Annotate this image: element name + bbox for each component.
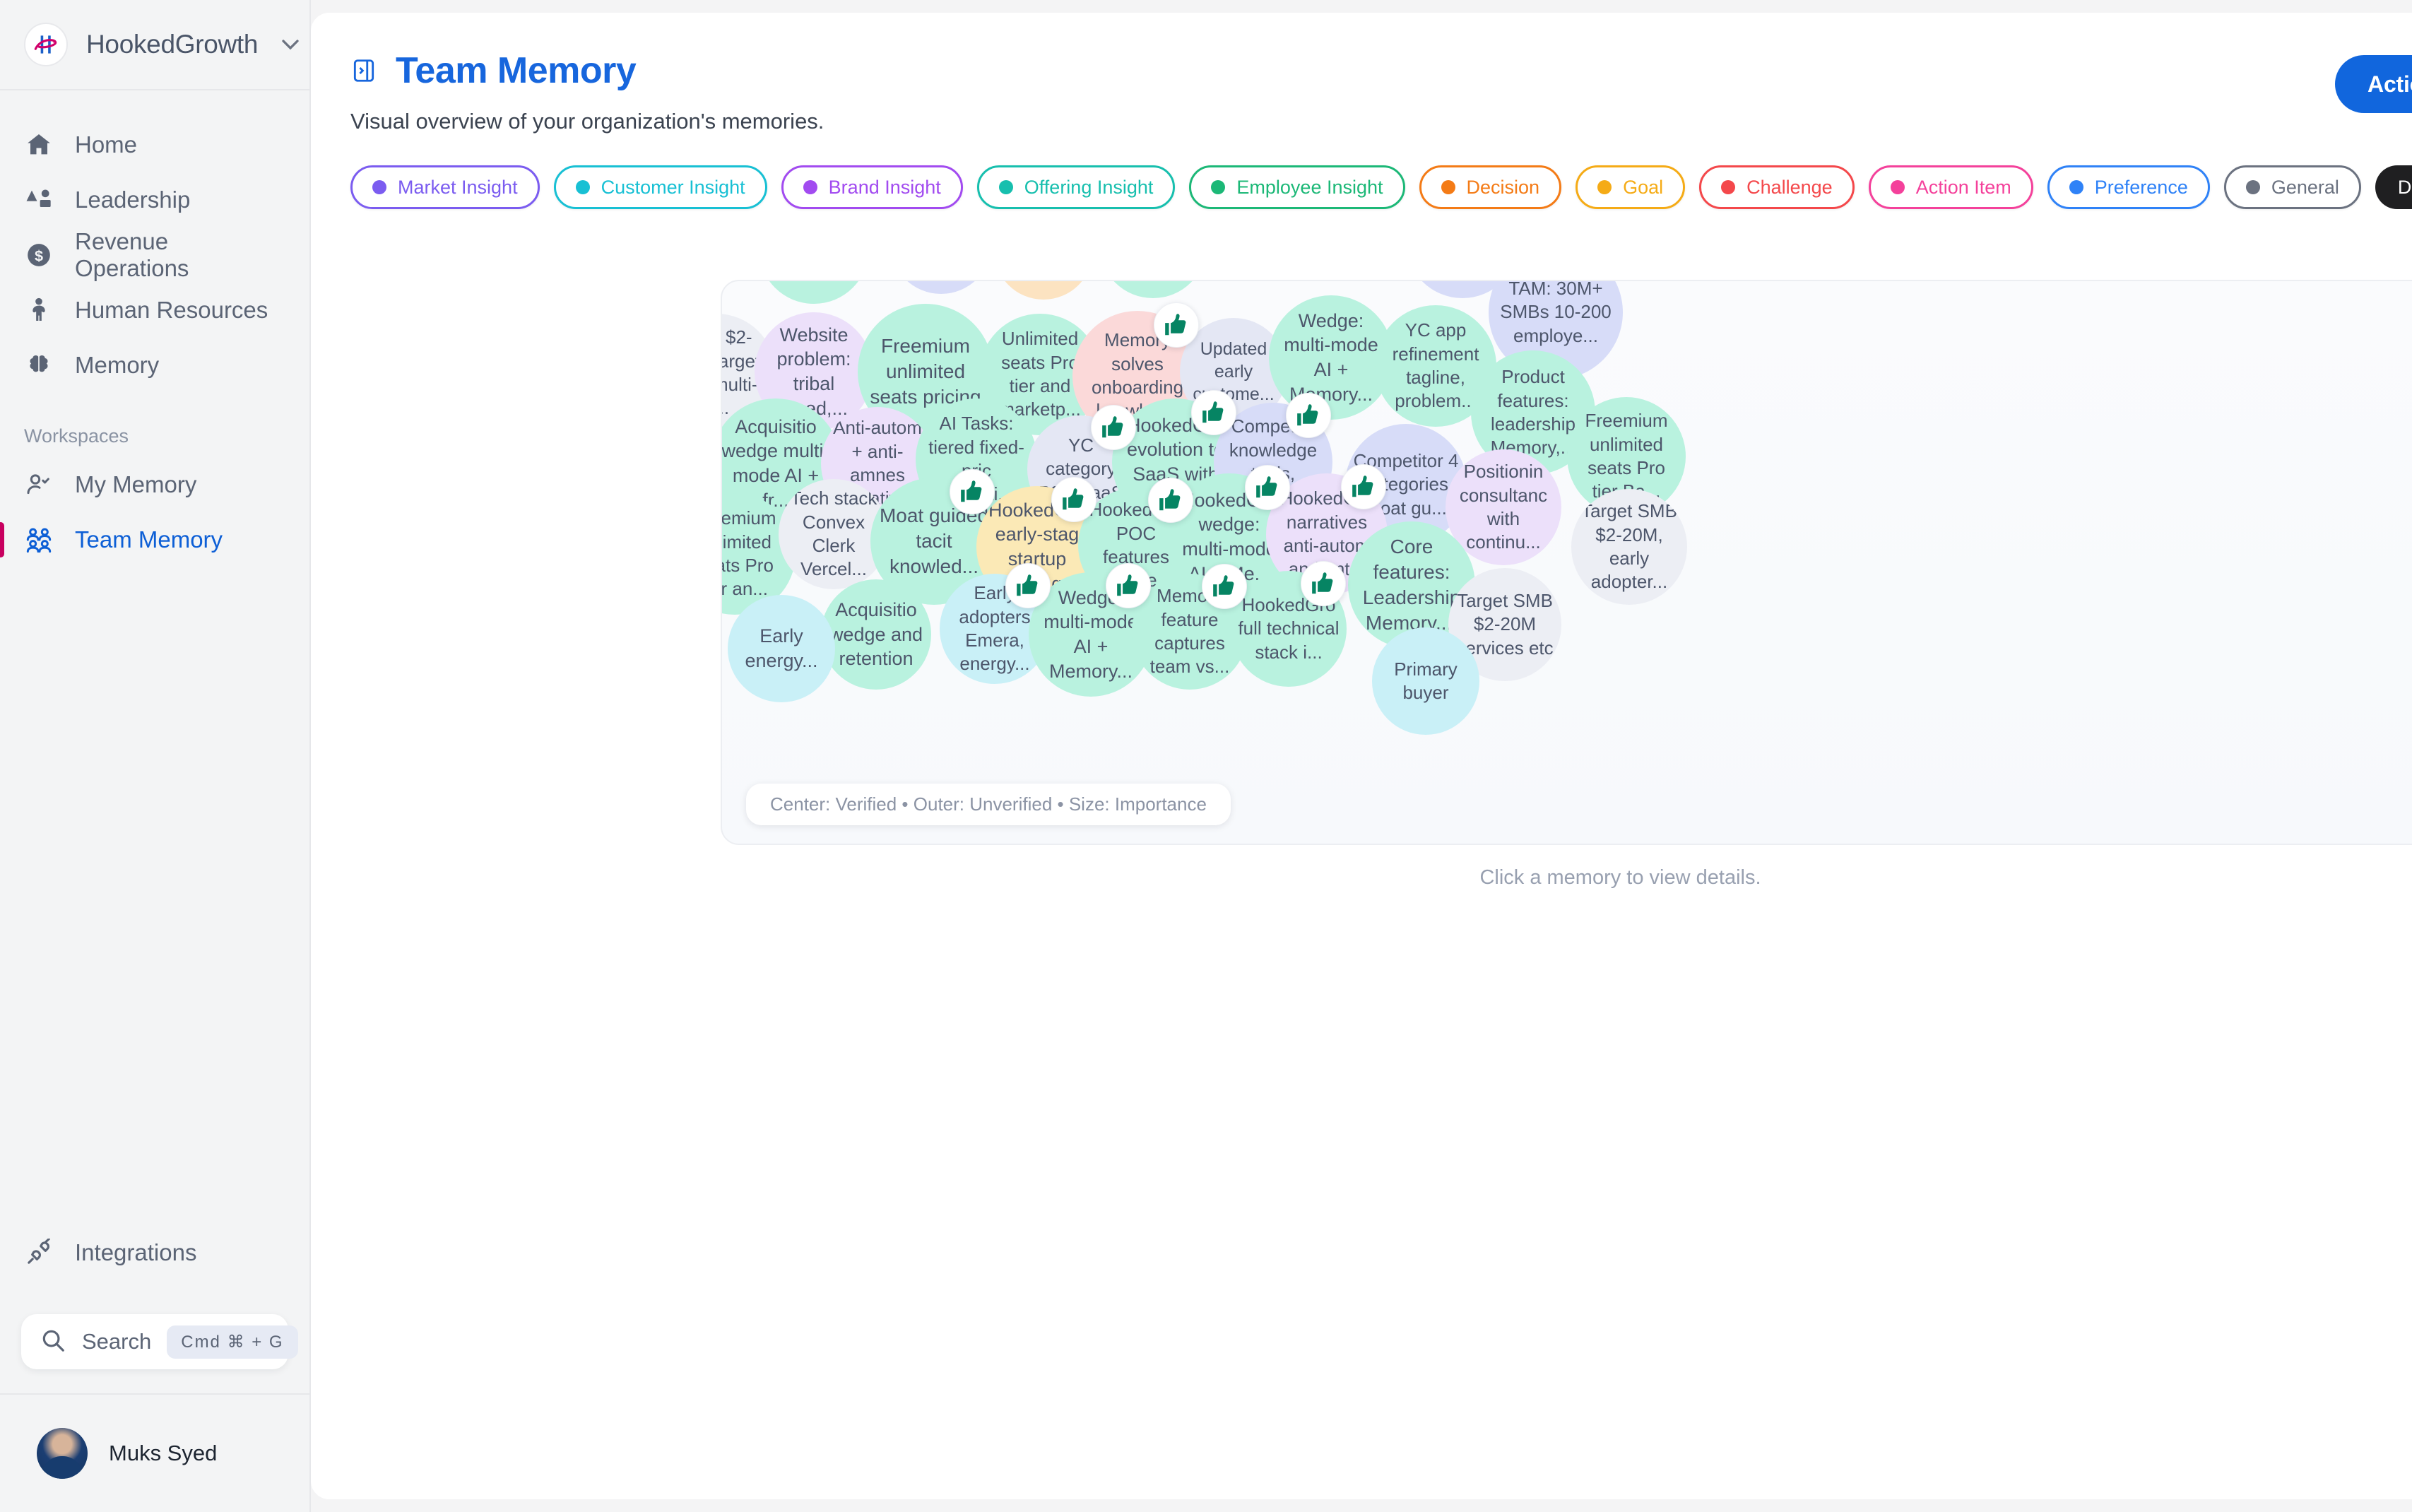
page-title: Team Memory <box>396 49 636 92</box>
user-name: Muks Syed <box>109 1441 217 1466</box>
filter-chip-label: Customer Insight <box>601 177 745 199</box>
filter-chip[interactable]: Action Item <box>1869 165 2033 209</box>
sidebar: HookedGrowth Home Leadership $ <box>0 0 311 1512</box>
filter-chip-dot <box>2069 180 2083 194</box>
memory-bubble[interactable]: unlimited seats model a... <box>1099 280 1207 298</box>
deselect-all-button[interactable]: Deselect All <box>2375 165 2412 209</box>
user-profile[interactable]: Muks Syed <box>0 1393 309 1512</box>
workspaces-section-title: Workspaces <box>0 393 309 457</box>
search-input[interactable]: Search Cmd ⌘ + G <box>21 1314 288 1369</box>
sidebar-item-label: Team Memory <box>75 526 223 553</box>
workspace-name: HookedGrowth <box>86 30 258 59</box>
filter-chip-dot <box>1441 180 1455 194</box>
main-panel: Team Memory Visual overview of your orga… <box>311 13 2412 1499</box>
filter-chip-label: Goal <box>1623 177 1663 199</box>
dollar-circle-icon: $ <box>24 240 54 270</box>
user-check-icon <box>24 470 54 500</box>
thumbs-up-icon[interactable] <box>1286 393 1331 438</box>
panel-right-icon <box>350 57 377 84</box>
thumbs-up-icon[interactable] <box>1091 405 1136 450</box>
actions-button-label: Actions <box>2367 71 2412 98</box>
actions-button[interactable]: Actions <box>2335 55 2412 113</box>
sidebar-item-label: Human Resources <box>75 297 268 324</box>
memory-bubble[interactable]: Primary buyer <box>1372 627 1479 735</box>
thumbs-up-icon[interactable] <box>1106 563 1151 608</box>
filter-chip[interactable]: Goal <box>1576 165 1685 209</box>
sidebar-item-label: My Memory <box>75 471 196 498</box>
search-shortcut: Cmd ⌘ + G <box>167 1325 297 1359</box>
memory-bubble[interactable]: Acquisitio wedge and retention <box>821 579 931 690</box>
filter-chip[interactable]: Brand Insight <box>781 165 963 209</box>
filter-chip-label: Market Insight <box>398 177 518 199</box>
filter-chip-dot <box>999 180 1013 194</box>
hookedgrowth-logo-icon <box>24 23 68 66</box>
sidebar-item-label: Memory <box>75 352 159 379</box>
memory-bubble[interactable]: for roles and HR <box>1308 280 1407 281</box>
filter-chip[interactable]: General <box>2224 165 2361 209</box>
filter-chip-label: Action Item <box>1916 177 2011 199</box>
users-group-icon <box>24 525 54 555</box>
workspace-switcher[interactable]: HookedGrowth <box>0 0 309 90</box>
filter-chip-dot <box>372 180 386 194</box>
thumbs-up-icon[interactable] <box>1301 561 1346 606</box>
chart-legend: Center: Verified • Outer: Unverified • S… <box>746 784 1231 825</box>
sidebar-item-home[interactable]: Home <box>0 117 309 172</box>
leadership-icon <box>24 185 54 215</box>
filter-chip-dot <box>1597 180 1612 194</box>
filter-chip[interactable]: Employee Insight <box>1189 165 1405 209</box>
brain-icon <box>24 350 54 380</box>
memory-bubble[interactable]: pricing with unlimit... <box>759 280 869 304</box>
filter-chip-dot <box>1721 180 1735 194</box>
sidebar-item-label: Integrations <box>75 1239 196 1266</box>
filter-chip[interactable]: Customer Insight <box>554 165 767 209</box>
memory-bubble[interactable]: Wedge: multi-mode AI + Memory... <box>1269 295 1393 420</box>
sidebar-spacer <box>0 567 309 1225</box>
filter-chip[interactable]: Offering Insight <box>977 165 1176 209</box>
sidebar-item-label: Revenue Operations <box>75 228 285 282</box>
filter-chip-label: Decision <box>1467 177 1540 199</box>
thumbs-up-icon[interactable] <box>1245 465 1290 510</box>
thumbs-up-icon[interactable] <box>1191 390 1236 435</box>
search-placeholder: Search <box>82 1329 151 1354</box>
filter-chip-label: General <box>2271 177 2339 199</box>
search-icon <box>40 1327 66 1357</box>
filter-chip[interactable]: Challenge <box>1699 165 1855 209</box>
filter-chip[interactable]: Preference <box>2047 165 2210 209</box>
memory-bubble-canvas[interactable]: Center: Verified • Outer: Unverified • S… <box>721 280 2412 845</box>
avatar <box>37 1428 88 1479</box>
home-icon <box>24 130 54 160</box>
sidebar-item-revenue-operations[interactable]: $ Revenue Operations <box>0 228 309 283</box>
thumbs-up-icon[interactable] <box>1005 563 1051 608</box>
primary-nav: Home Leadership $ Revenue Operations Hum… <box>0 90 309 567</box>
main-wrapper: Team Memory Visual overview of your orga… <box>311 0 2412 1512</box>
filter-chip-label: Employee Insight <box>1236 177 1383 199</box>
sidebar-item-label: Leadership <box>75 187 190 213</box>
filter-chip-label: Offering Insight <box>1024 177 1154 199</box>
chart-hint: Click a memory to view details. <box>721 866 2412 890</box>
thumbs-up-icon[interactable] <box>1051 477 1096 522</box>
chevron-down-icon[interactable] <box>276 30 305 59</box>
thumbs-up-icon[interactable] <box>1154 302 1199 348</box>
filter-chip-dot <box>803 180 817 194</box>
memory-bubble[interactable]: descriptio draft structure <box>994 280 1093 300</box>
title-row: Team Memory <box>350 49 2412 92</box>
plug-icon <box>24 1238 54 1268</box>
filter-chip-dot <box>576 180 590 194</box>
sidebar-item-human-resources[interactable]: Human Resources <box>0 283 309 338</box>
memory-bubble[interactable]: landscape and moat <box>890 280 992 294</box>
app-root: HookedGrowth Home Leadership $ <box>0 0 2412 1512</box>
filter-chip[interactable]: Decision <box>1419 165 1562 209</box>
sidebar-item-memory[interactable]: Memory <box>0 338 309 393</box>
filter-chip-label: Brand Insight <box>829 177 941 199</box>
memory-bubble[interactable]: Target SMB $2-20M, early adopter... <box>1571 489 1687 605</box>
sidebar-item-integrations[interactable]: Integrations <box>0 1225 309 1280</box>
thumbs-up-icon[interactable] <box>950 469 995 514</box>
memory-bubble[interactable]: outreach target <box>1207 280 1300 281</box>
sidebar-item-leadership[interactable]: Leadership <box>0 172 309 228</box>
thumbs-up-icon[interactable] <box>1148 478 1193 523</box>
sidebar-item-my-memory[interactable]: My Memory <box>0 457 309 512</box>
filter-chip-dot <box>1211 180 1225 194</box>
page-subtitle: Visual overview of your organization's m… <box>350 109 2412 134</box>
filter-chip-dot <box>1891 180 1905 194</box>
sidebar-item-label: Home <box>75 131 137 158</box>
memory-bubble[interactable]: Early energy... <box>728 595 835 702</box>
svg-text:$: $ <box>35 247 43 264</box>
thumbs-up-icon[interactable] <box>1341 464 1386 509</box>
filter-chip-dot <box>2246 180 2260 194</box>
filter-chip[interactable]: Market Insight <box>350 165 540 209</box>
category-filter-chips: Market InsightCustomer InsightBrand Insi… <box>311 134 2412 209</box>
filter-chip-label: Challenge <box>1746 177 1833 199</box>
person-icon <box>24 295 54 325</box>
page-header: Team Memory Visual overview of your orga… <box>311 13 2412 134</box>
thumbs-up-icon[interactable] <box>1202 564 1247 609</box>
sidebar-item-team-memory[interactable]: Team Memory <box>0 512 309 567</box>
filter-chip-label: Preference <box>2095 177 2188 199</box>
